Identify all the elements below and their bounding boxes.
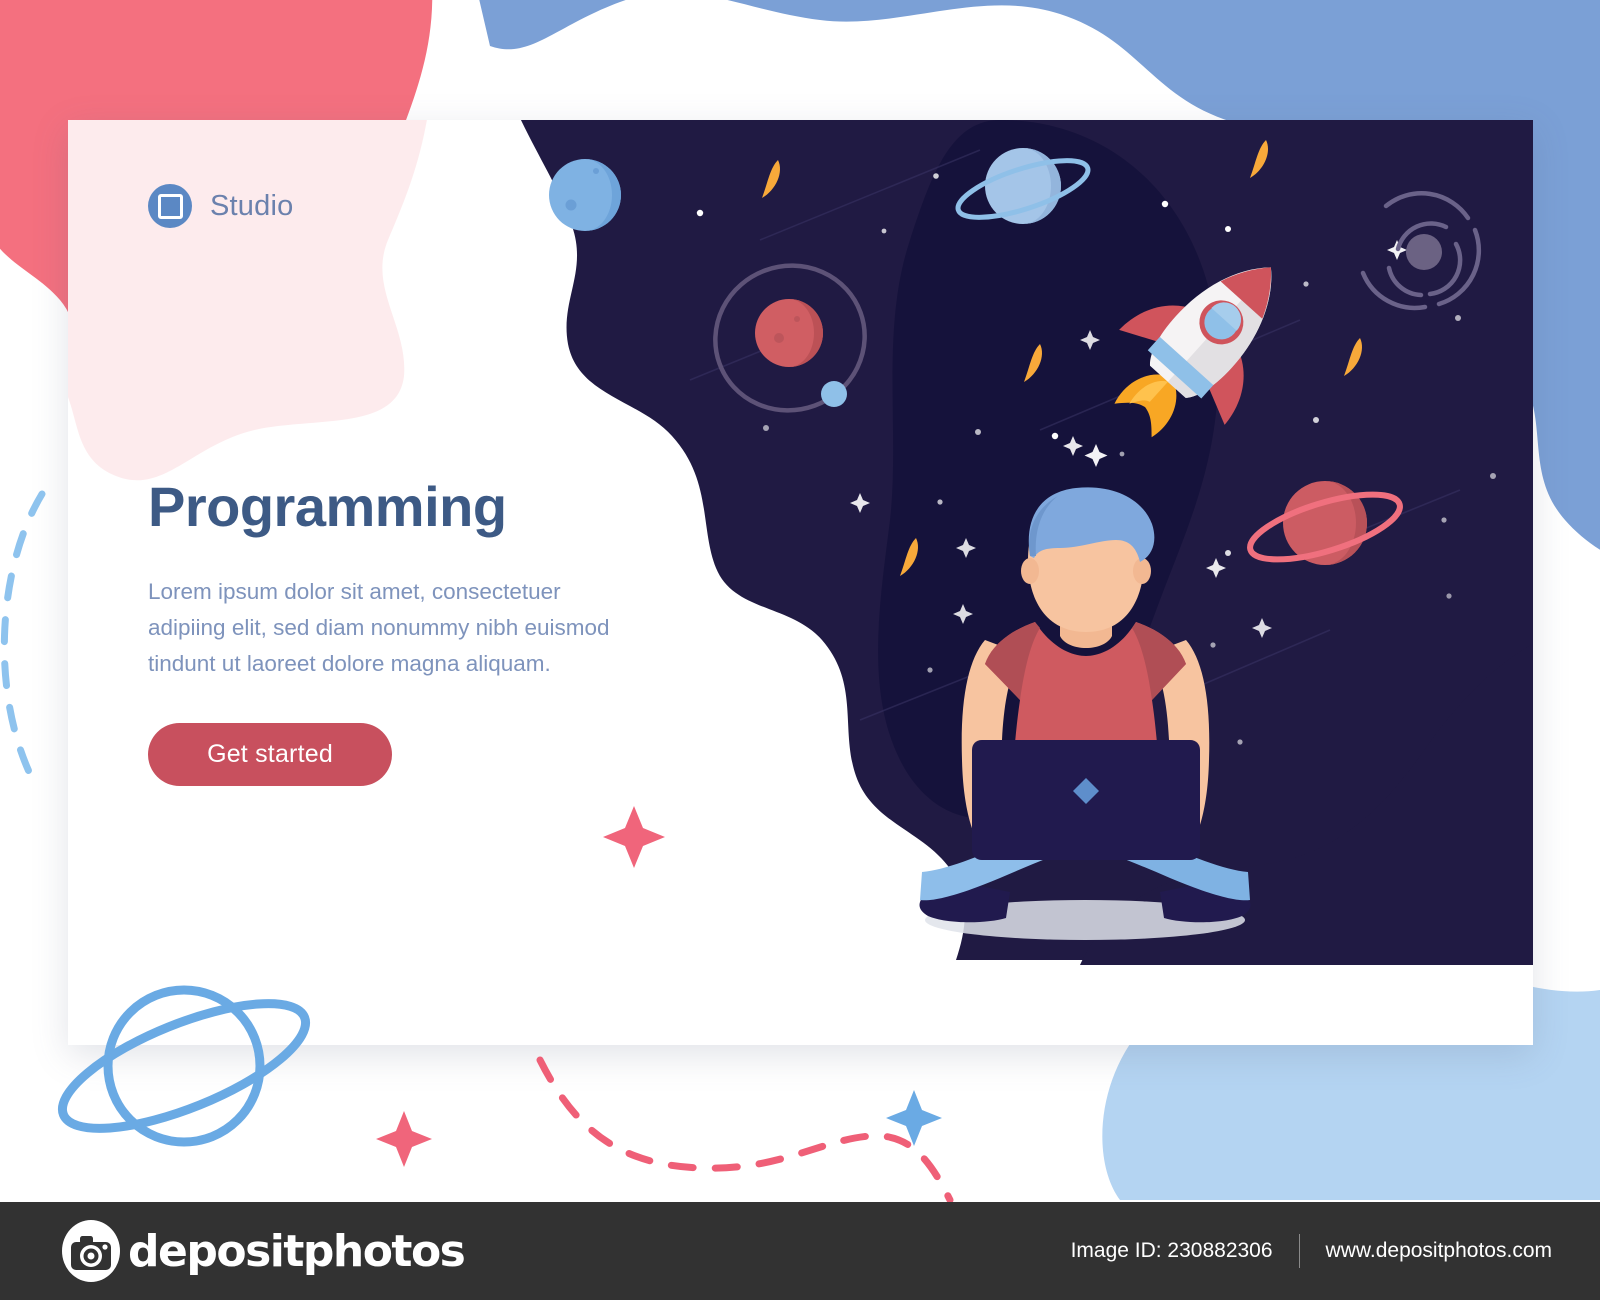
brand-name: Studio [210, 190, 293, 223]
screenshot-stage: Studio Programming Lorem ipsum dolor sit… [0, 0, 1600, 1300]
pink-sparkle-icon-2 [376, 1111, 432, 1167]
dashed-wave [540, 1060, 950, 1200]
website-label: www.depositphotos.com [1326, 1239, 1552, 1263]
camera-icon [60, 1220, 122, 1282]
hero-content: Studio Programming Lorem ipsum dolor sit… [148, 180, 668, 232]
saturn-outline-icon [48, 978, 321, 1153]
page-title: Programming [148, 474, 507, 539]
hero-paragraph: Lorem ipsum dolor sit amet, consectetuer… [148, 574, 618, 682]
image-id-label: Image ID: 230882306 [1071, 1239, 1273, 1263]
pink-sparkle-icon [603, 806, 665, 868]
brand-logo[interactable]: Studio [148, 180, 668, 232]
footer-meta: Image ID: 230882306 www.depositphotos.co… [1071, 1234, 1552, 1268]
depositphotos-wordmark: depositphotos [128, 1226, 464, 1277]
footer-divider [1299, 1234, 1300, 1268]
depositphotos-logo: depositphotos [60, 1220, 464, 1282]
dashed-arc-left [4, 494, 42, 786]
square-outline-icon [148, 184, 192, 228]
get-started-button[interactable]: Get started [148, 723, 392, 786]
depositphotos-footer: depositphotos Image ID: 230882306 www.de… [0, 1202, 1600, 1300]
